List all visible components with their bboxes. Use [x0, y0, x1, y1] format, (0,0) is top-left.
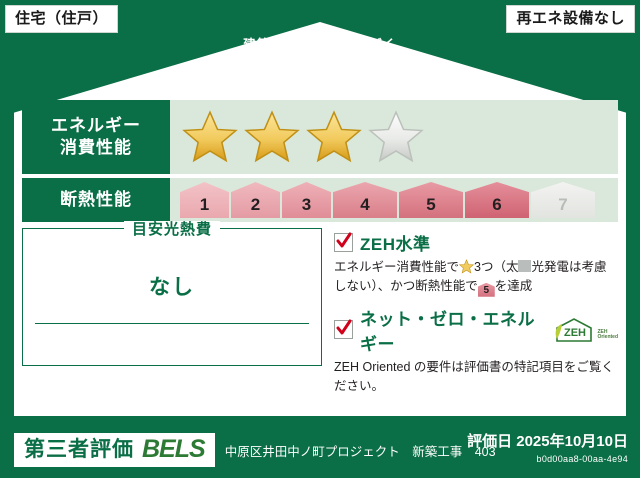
star-icon: [459, 259, 474, 274]
energy-performance-row: エネルギー 消費性能: [22, 100, 618, 174]
zeh-column: ZEH水準 エネルギー消費性能で3つ（太光発電は考慮しない）、かつ断熱性能で5を…: [334, 228, 618, 403]
zeh-logo: ZEH ZEH Oriented: [553, 317, 618, 343]
cost-box-title-text: 目安光熱費: [124, 221, 220, 238]
energy-performance-label: 住宅（住戸） 再エネ設備なし 建築物省エネ法に基づく 省エネ性能ラベル エネルギ…: [0, 0, 640, 478]
star-rating: [182, 110, 424, 164]
insulation-performance-label-cell: 断熱性能: [22, 178, 170, 222]
star-filled-icon: [244, 110, 300, 164]
redacted-character-icon: [518, 260, 531, 272]
zeh-standard-heading-row: ZEH水準: [334, 230, 618, 255]
estimated-utility-cost-box: 目安光熱費 なし: [22, 228, 322, 366]
zeh-note-part4: を達成: [495, 279, 533, 293]
insulation-level-chip: 2: [231, 182, 280, 218]
energy-performance-value-cell: [170, 100, 618, 174]
footer-bar: 第三者評価 BELS 中原区井田中ノ町プロジェクト 新築工事 403 評価日 2…: [0, 422, 640, 478]
star-empty-icon: [368, 110, 424, 164]
insulation-performance-row: 断熱性能 1 2 3 4 5 6 7: [22, 178, 618, 222]
label-title: 建築物省エネ法に基づく 省エネ性能ラベル: [0, 38, 640, 83]
zeh-logo-sub-line2: Oriented: [597, 334, 618, 340]
zeh-note-part1: エネルギー消費性能で: [334, 260, 459, 274]
energy-performance-label-cell: エネルギー 消費性能: [22, 100, 170, 174]
insulation-level-chip: 6: [465, 182, 529, 218]
insulation-level-chip-inactive: 7: [531, 182, 595, 218]
cost-box-divider: [35, 323, 309, 324]
zeh-standard-heading: ZEH水準: [360, 230, 431, 255]
bels-badge-en: BELS: [142, 437, 205, 462]
zeh-logo-subtext: ZEH Oriented: [597, 330, 618, 343]
zeh-note-part2: 3つ（太: [474, 260, 518, 274]
insulation-level-scale: 1 2 3 4 5 6 7: [180, 182, 595, 218]
insulation-level-inline-chip: 5: [478, 283, 495, 297]
cost-box-title: 目安光熱費: [23, 218, 321, 239]
zeh-standard-block: ZEH水準 エネルギー消費性能で3つ（太光発電は考慮しない）、かつ断熱性能で5を…: [334, 230, 618, 297]
tag-renewable-equipment: 再エネ設備なし: [506, 5, 635, 33]
net-zero-energy-block: ネット・ゼロ・エネルギー ZEH ZEH Oriented: [334, 305, 618, 396]
checkbox-checked-icon[interactable]: [334, 320, 353, 339]
evaluation-info: 評価日 2025年10月10日 b0d00aa8-00aa-4e94: [467, 430, 628, 464]
zeh-standard-note: エネルギー消費性能で3つ（太光発電は考慮しない）、かつ断熱性能で5を達成: [334, 258, 618, 297]
bels-badge: 第三者評価 BELS: [14, 433, 215, 467]
insulation-level-chip: 1: [180, 182, 229, 218]
title-main: 省エネ性能ラベル: [0, 57, 640, 83]
net-zero-heading-row: ネット・ゼロ・エネルギー ZEH ZEH Oriented: [334, 305, 618, 355]
star-filled-icon: [306, 110, 362, 164]
bels-badge-jp: 第三者評価: [24, 439, 134, 460]
evaluation-id: b0d00aa8-00aa-4e94: [467, 454, 628, 464]
checkbox-checked-icon[interactable]: [334, 233, 353, 252]
title-subtitle: 建築物省エネ法に基づく: [0, 38, 640, 51]
net-zero-heading: ネット・ゼロ・エネルギー: [360, 305, 544, 355]
insulation-level-chip: 5: [399, 182, 463, 218]
lower-section: 目安光熱費 なし ZEH水準 エネルギー消費性能で3つ（太光発電は考慮しない）、…: [22, 228, 618, 403]
star-filled-icon: [182, 110, 238, 164]
project-name: 中原区井田中ノ町プロジェクト 新築工事 403: [225, 441, 496, 460]
cost-box-value: なし: [23, 271, 321, 301]
insulation-level-chip: 3: [282, 182, 331, 218]
energy-label-line2: 消費性能: [60, 138, 132, 157]
tag-building-type: 住宅（住戸）: [5, 5, 118, 33]
evaluation-date: 評価日 2025年10月10日: [467, 430, 628, 451]
insulation-level-chip: 4: [333, 182, 397, 218]
label-content: エネルギー 消費性能: [22, 100, 618, 416]
energy-label-line1: エネルギー: [51, 116, 141, 135]
zeh-house-logo-icon: ZEH: [553, 317, 595, 343]
svg-text:ZEH: ZEH: [564, 327, 586, 339]
insulation-performance-value-cell: 1 2 3 4 5 6 7: [170, 178, 618, 222]
net-zero-note: ZEH Oriented の要件は評価書の特記項目をご覧ください。: [334, 358, 618, 396]
